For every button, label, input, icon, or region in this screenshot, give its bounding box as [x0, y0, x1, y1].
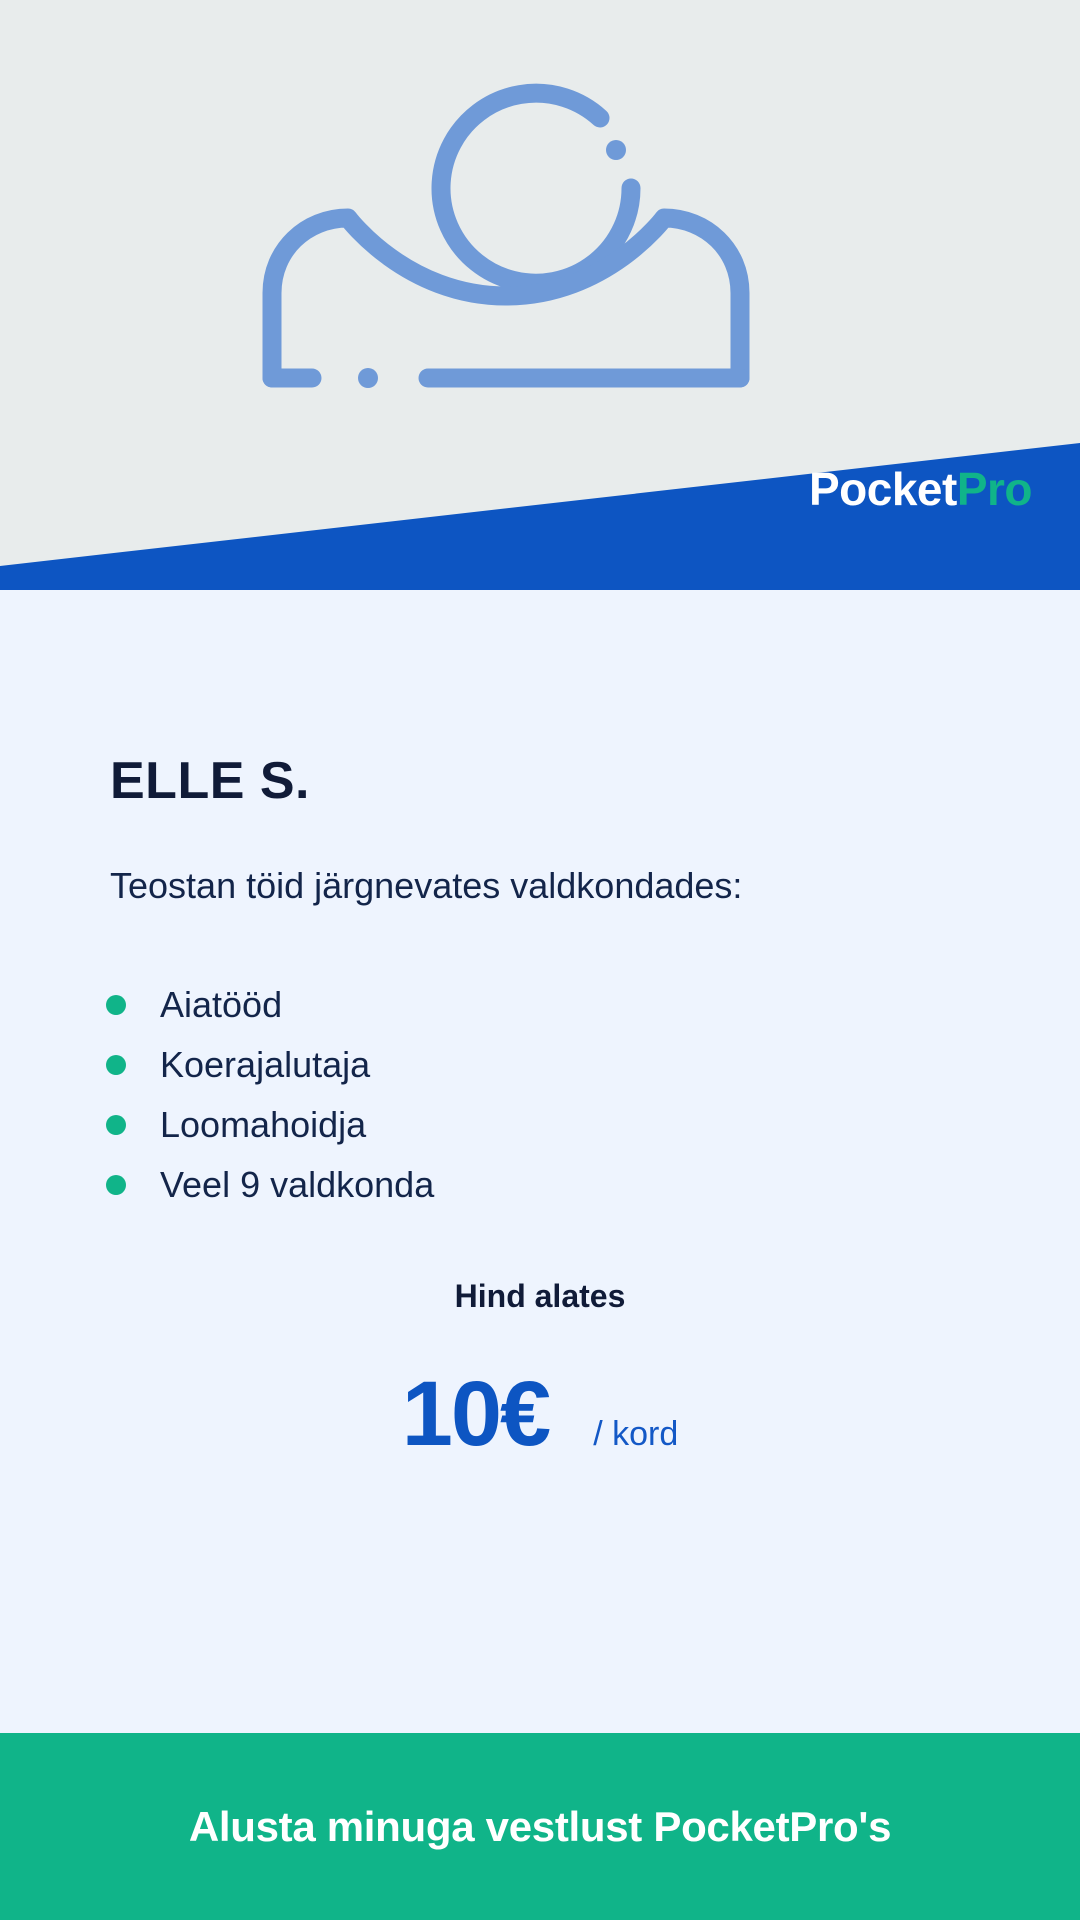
bullet-dot-icon	[106, 1175, 126, 1195]
skill-label: Koerajalutaja	[160, 1047, 370, 1083]
intro-text: Teostan töid järgnevates valdkondades:	[110, 868, 742, 904]
price-caption: Hind alates	[455, 1280, 626, 1312]
hero-section: PocketPro	[0, 0, 1080, 590]
start-chat-button[interactable]: Alusta minuga vestlust PocketPro's	[0, 1733, 1080, 1920]
provider-name: ELLE S.	[110, 755, 310, 807]
list-item[interactable]: Veel 9 valdkonda	[106, 1155, 434, 1215]
pocketpro-logo: PocketPro	[809, 466, 1032, 512]
skill-label-more: Veel 9 valdkonda	[160, 1167, 434, 1203]
list-item: Aiatööd	[106, 975, 434, 1035]
skill-label: Aiatööd	[160, 987, 282, 1023]
details-section: ELLE S. Teostan töid järgnevates valdkon…	[0, 590, 1080, 1733]
skills-list: Aiatööd Koerajalutaja Loomahoidja Veel 9…	[106, 975, 434, 1215]
skill-label: Loomahoidja	[160, 1107, 366, 1143]
list-item: Loomahoidja	[106, 1095, 434, 1155]
price-unit: / kord	[593, 1417, 678, 1451]
start-chat-label: Alusta minuga vestlust PocketPro's	[189, 1806, 891, 1848]
provider-profile-card: PocketPro ELLE S. Teostan töid järgnevat…	[0, 0, 1080, 1920]
bullet-dot-icon	[106, 1115, 126, 1135]
bullet-dot-icon	[106, 995, 126, 1015]
price-row: 10€ / kord	[402, 1368, 679, 1460]
logo-text-pro: Pro	[957, 463, 1032, 515]
price-amount: 10€	[402, 1368, 550, 1460]
logo-text-pocket: Pocket	[809, 463, 957, 515]
list-item: Koerajalutaja	[106, 1035, 434, 1095]
bullet-dot-icon	[106, 1055, 126, 1075]
